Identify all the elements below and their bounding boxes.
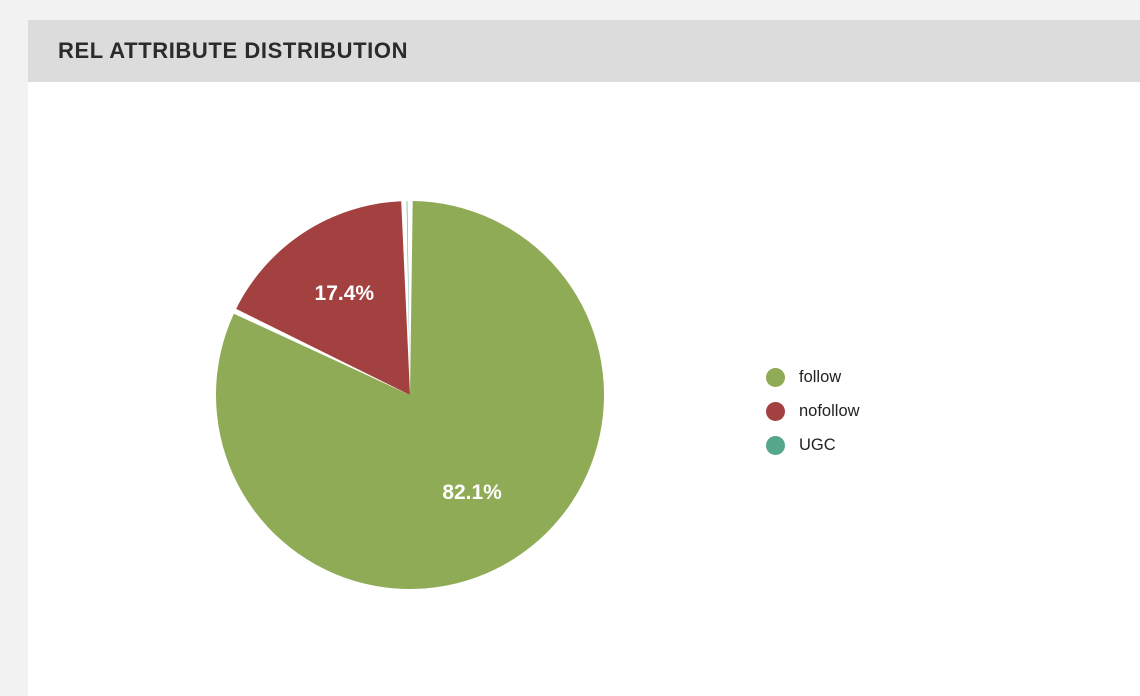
- legend-item-follow[interactable]: follow: [766, 360, 860, 394]
- chart-legend: follow nofollow UGC: [766, 360, 860, 462]
- page-root: REL ATTRIBUTE DISTRIBUTION 82.1%17.4% fo…: [0, 0, 1140, 696]
- pie-label-nofollow: 17.4%: [315, 282, 375, 305]
- pie-chart-svg: 82.1%17.4%: [214, 199, 606, 591]
- pie-chart: 82.1%17.4%: [214, 199, 606, 591]
- pie-label-follow: 82.1%: [442, 481, 502, 504]
- legend-label-nofollow: nofollow: [799, 402, 860, 421]
- card-header: REL ATTRIBUTE DISTRIBUTION: [28, 20, 1140, 82]
- pie-slice-group: [216, 201, 604, 589]
- legend-swatch-icon: [766, 402, 785, 421]
- card-body: 82.1%17.4% follow nofollow UGC: [28, 82, 1140, 696]
- legend-item-ugc[interactable]: UGC: [766, 428, 860, 462]
- page-title: REL ATTRIBUTE DISTRIBUTION: [58, 38, 408, 64]
- legend-swatch-icon: [766, 368, 785, 387]
- rel-attribute-distribution-card: REL ATTRIBUTE DISTRIBUTION 82.1%17.4% fo…: [28, 20, 1140, 696]
- legend-swatch-icon: [766, 436, 785, 455]
- legend-label-follow: follow: [799, 368, 841, 387]
- legend-item-nofollow[interactable]: nofollow: [766, 394, 860, 428]
- legend-label-ugc: UGC: [799, 436, 836, 455]
